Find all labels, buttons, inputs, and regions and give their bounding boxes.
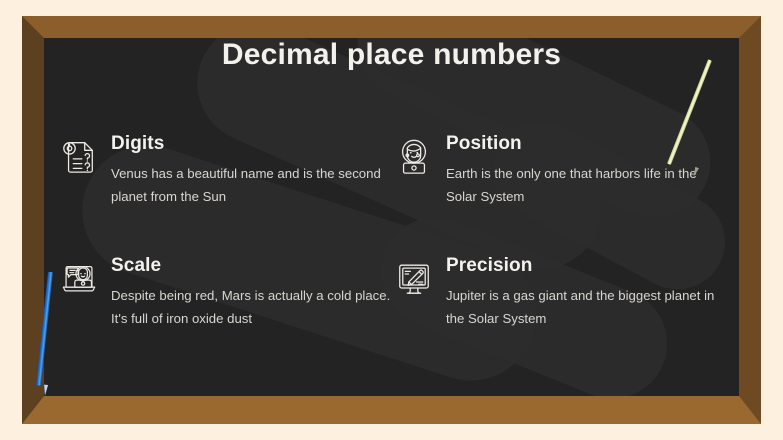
page-title: Decimal place numbers (0, 38, 783, 72)
feature-description: Despite being red, Mars is actually a co… (111, 285, 395, 330)
blue-pencil-shaft (36, 272, 53, 386)
document-question-marks-icon (60, 136, 98, 176)
feature-text-block: Scale Despite being red, Mars is actuall… (111, 255, 395, 330)
feature-heading: Scale (111, 256, 395, 276)
monitor-pencil-icon (395, 258, 433, 298)
feature-item-digits: Digits Venus has a beautiful name and is… (60, 133, 395, 208)
feature-grid: Digits Venus has a beautiful name and is… (60, 133, 725, 331)
feature-description: Jupiter is a gas giant and the biggest p… (446, 285, 725, 330)
feature-item-scale: Scale Despite being red, Mars is actuall… (60, 255, 395, 330)
feature-description: Venus has a beautiful name and is the se… (111, 163, 395, 208)
astronaut-icon (395, 136, 433, 176)
blue-pencil (36, 272, 76, 398)
feature-item-precision: Precision Jupiter is a gas giant and the… (395, 255, 725, 330)
feature-heading: Precision (446, 256, 725, 276)
slide-canvas: Decimal place numbers (0, 0, 783, 440)
green-pencil (690, 58, 730, 178)
feature-text-block: Digits Venus has a beautiful name and is… (111, 133, 395, 208)
green-pencil-tip (692, 167, 699, 178)
feature-heading: Digits (111, 134, 395, 154)
feature-heading: Position (446, 134, 725, 154)
feature-description: Earth is the only one that harbors life … (446, 163, 725, 208)
feature-text-block: Position Earth is the only one that harb… (446, 133, 725, 208)
feature-text-block: Precision Jupiter is a gas giant and the… (446, 255, 725, 330)
blue-pencil-tip (43, 385, 48, 396)
